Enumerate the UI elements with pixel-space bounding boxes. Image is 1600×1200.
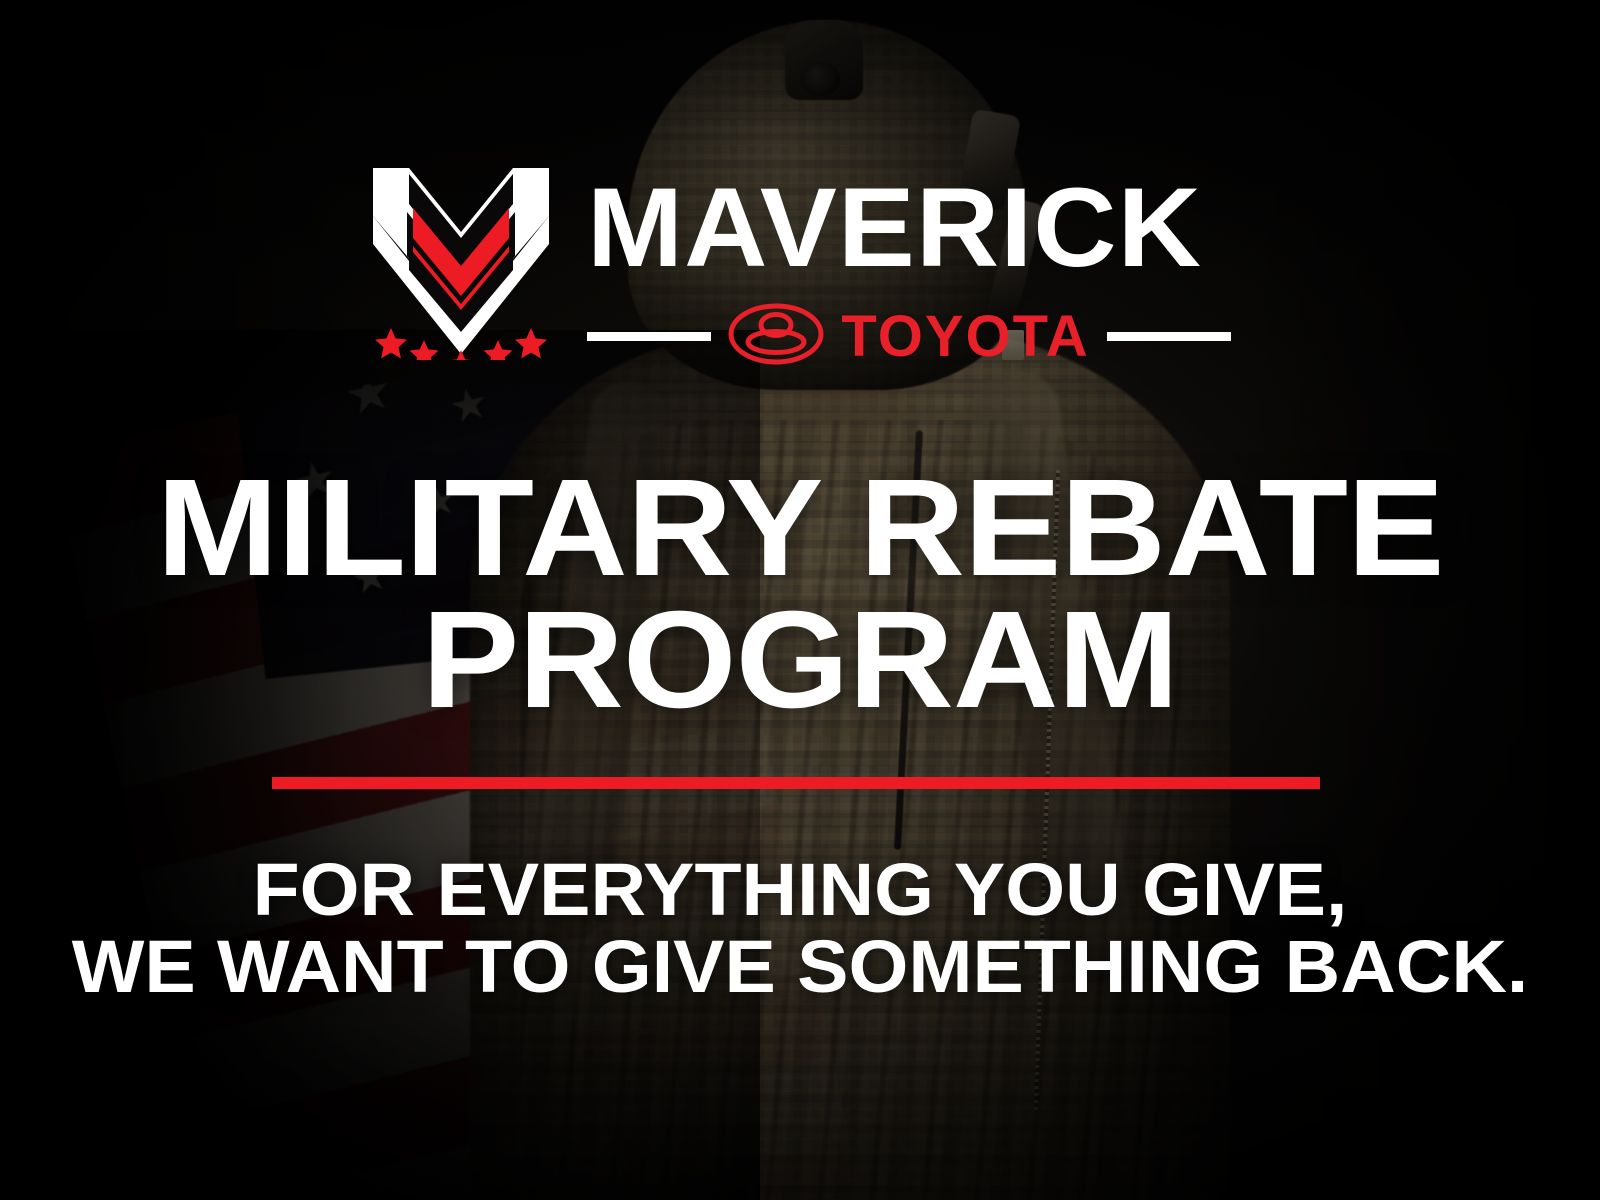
page-title: MILITARY REBATE PROGRAM (0, 462, 1600, 727)
promo-banner: ★ ★ ★ ★ ★ ★ ★ ★ (0, 0, 1600, 1200)
banner-content: MAVERICK TOYOTA MILITARY REB (0, 0, 1600, 1200)
brand-logo-lockup: MAVERICK TOYOTA (0, 160, 1600, 371)
toyota-sub-brand-row: TOYOTA (587, 302, 1230, 371)
toyota-ellipse-emblem-icon (728, 302, 824, 371)
tagline-line-2: WE WANT TO GIVE SOMETHING BACK. (0, 929, 1600, 1006)
tagline: FOR EVERYTHING YOU GIVE, WE WANT TO GIVE… (0, 852, 1600, 1006)
brand-name: MAVERICK (587, 172, 1250, 284)
chevron-rank-insignia-icon (369, 160, 553, 360)
red-divider (272, 777, 1320, 789)
rule-left (587, 332, 711, 341)
headline-line-2: PROGRAM (0, 594, 1600, 726)
headline-line-1: MILITARY REBATE (0, 462, 1600, 594)
brand-wordmark-column: MAVERICK TOYOTA (587, 160, 1230, 371)
toyota-wordmark: TOYOTA (841, 308, 1089, 366)
rule-right (1107, 332, 1231, 341)
tagline-line-1: FOR EVERYTHING YOU GIVE, (0, 852, 1600, 929)
